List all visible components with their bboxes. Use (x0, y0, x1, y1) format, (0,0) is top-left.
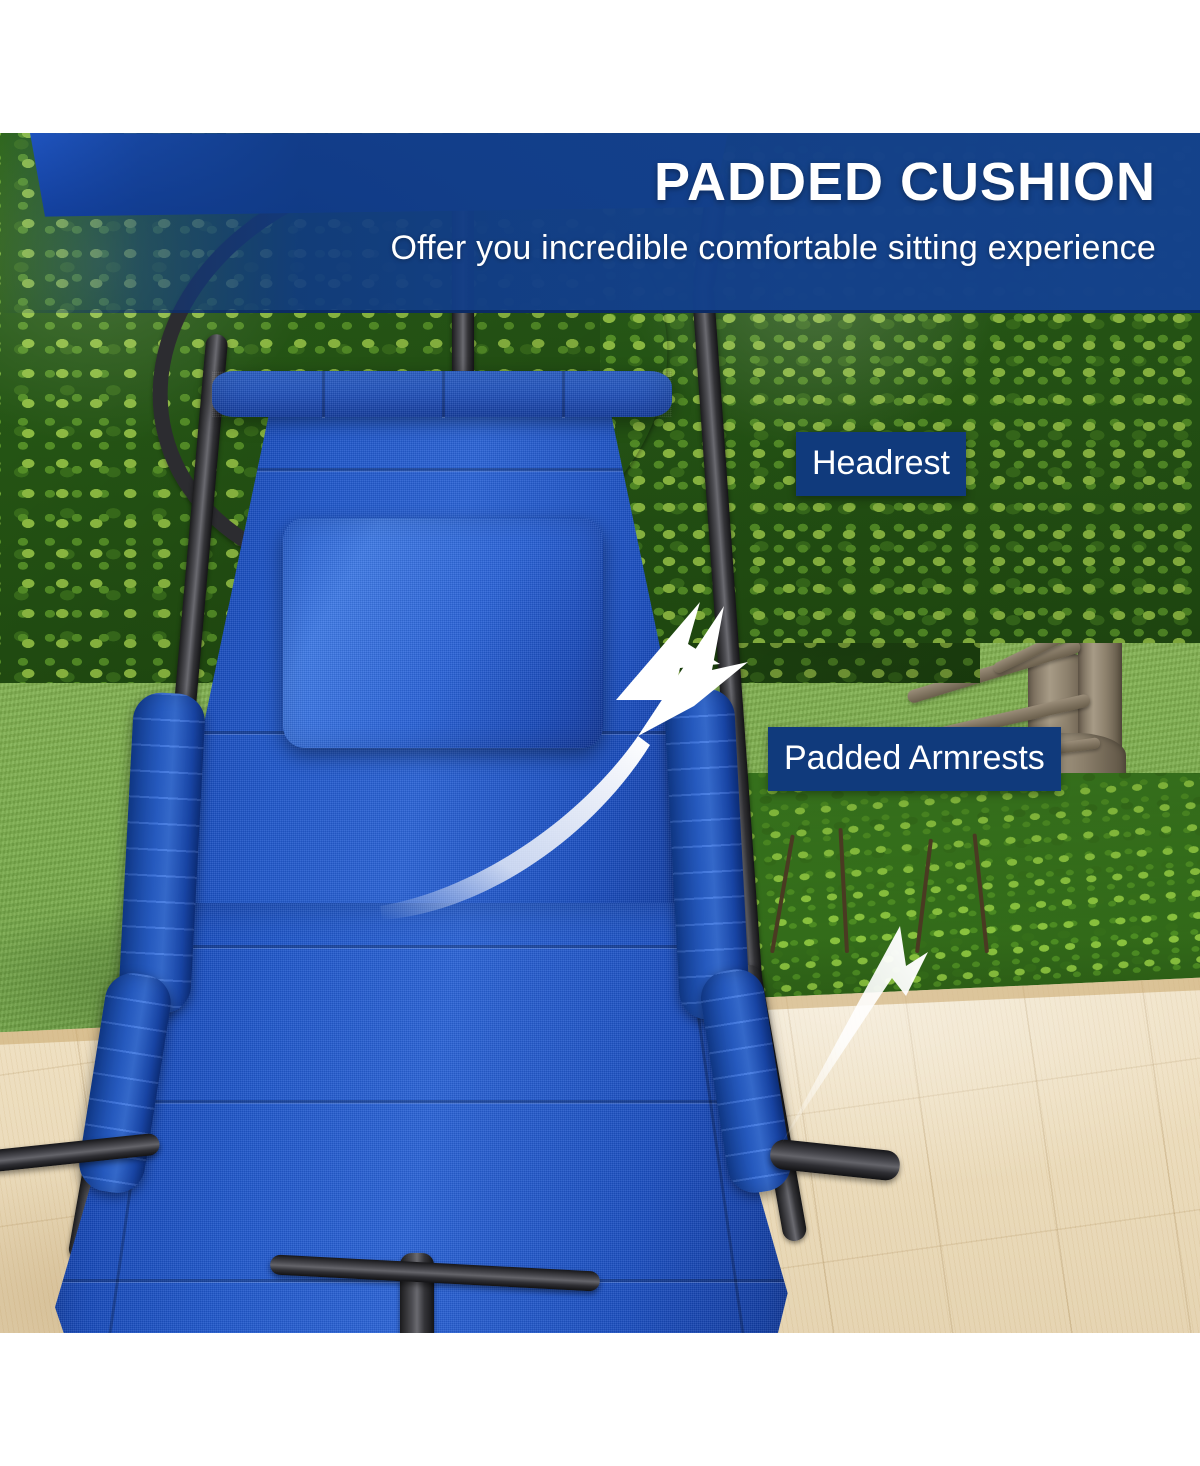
backrest-top-bolster (212, 371, 672, 417)
header-banner: PADDED CUSHION Offer you incredible comf… (0, 133, 1200, 313)
callout-label-headrest: Headrest (796, 432, 966, 496)
product-feature-image: PADDED CUSHION Offer you incredible comf… (0, 0, 1200, 1466)
banner-bottom-rule (0, 310, 1200, 313)
headrest-pillow (283, 518, 603, 748)
bottom-white-band (0, 1333, 1200, 1466)
banner-title: PADDED CUSHION (654, 155, 1156, 210)
banner-subtitle: Offer you incredible comfortable sitting… (390, 229, 1156, 268)
callout-label-padded-armrests: Padded Armrests (768, 727, 1061, 791)
top-white-band (0, 0, 1200, 133)
